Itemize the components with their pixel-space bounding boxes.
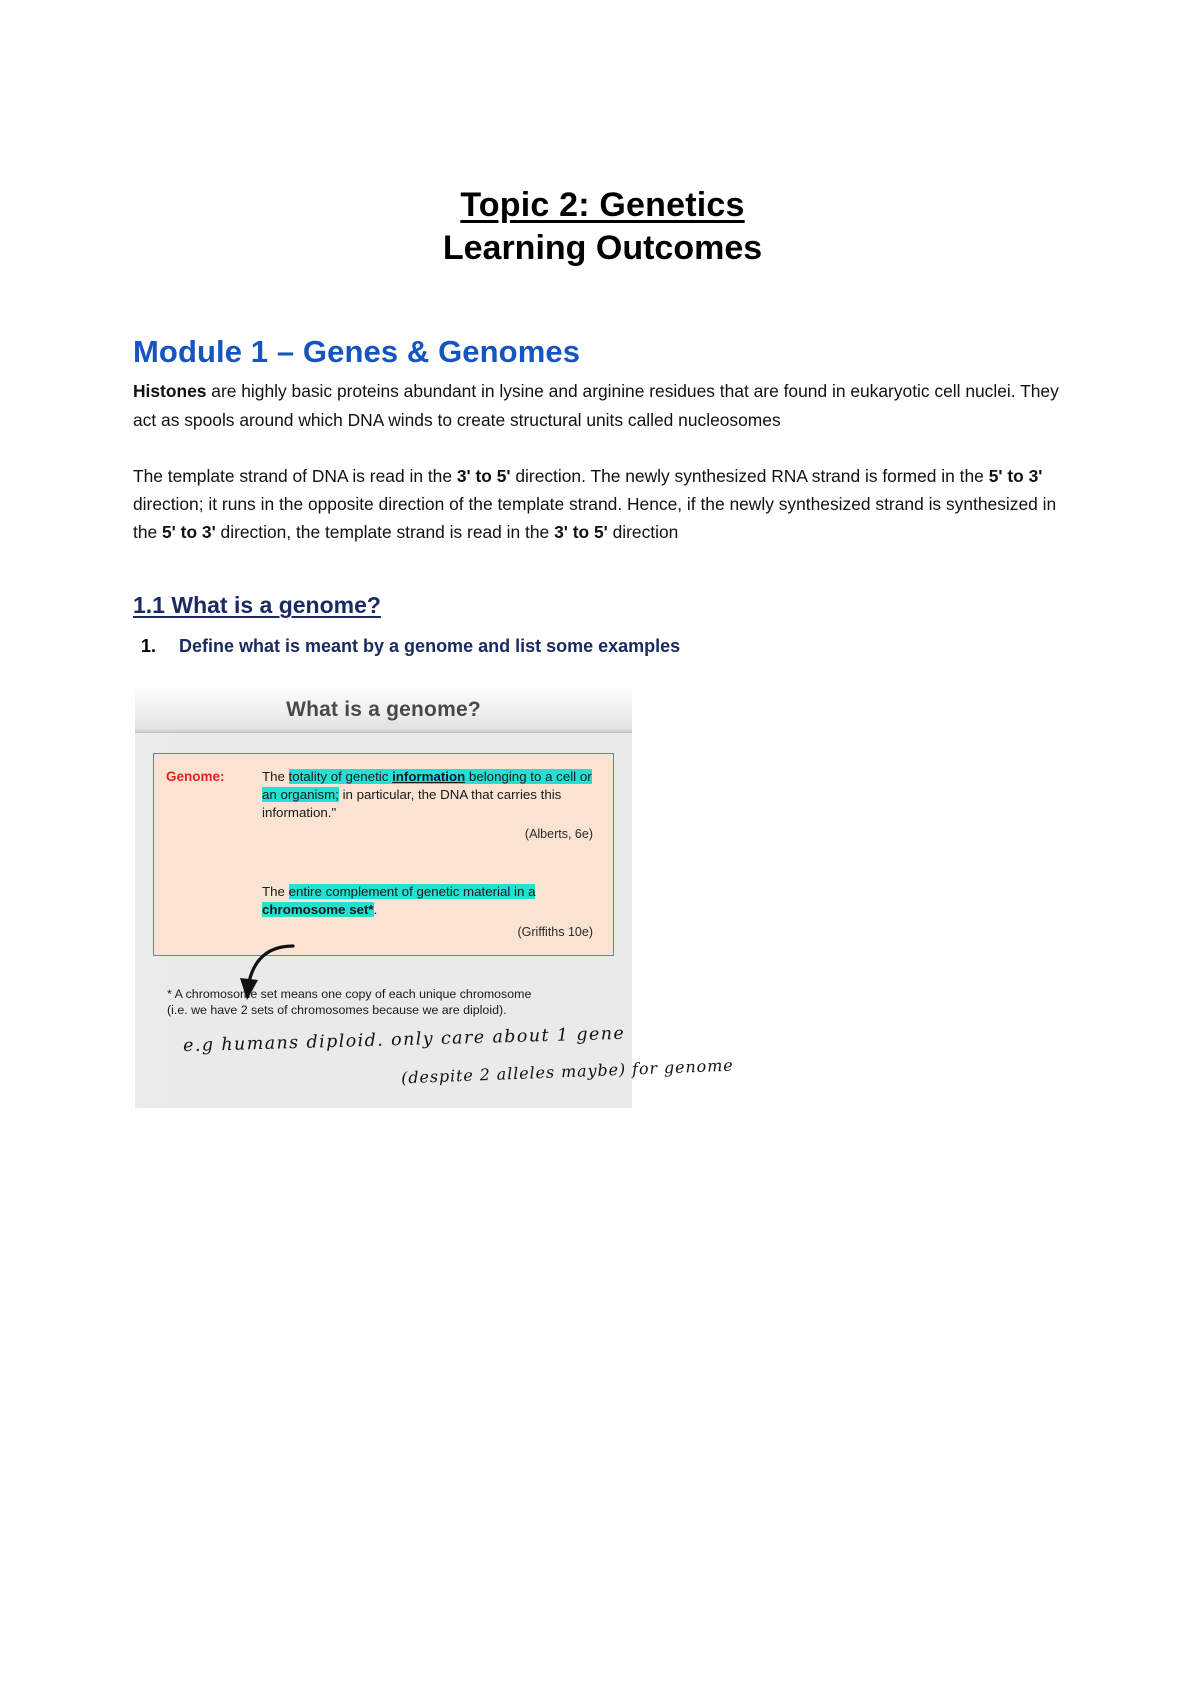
def2-pre: The (262, 884, 289, 899)
definition-text-alberts: The totality of genetic information belo… (262, 768, 601, 821)
curved-arrow-icon (231, 940, 301, 1010)
handwriting-line-2: (despite 2 alleles maybe) for genome (401, 1056, 734, 1088)
template-strand-seg5: direction (608, 522, 679, 542)
module-heading: Module 1 – Genes & Genomes (133, 333, 1072, 372)
direction-3to5-a: 3' to 5' (457, 466, 511, 486)
module-paragraph-1: Histones are highly basic proteins abund… (133, 377, 1072, 433)
slide-header-title: What is a genome? (286, 698, 481, 722)
document-title: Topic 2: Genetics (133, 185, 1072, 226)
handwriting-line-1: e.g humans diploid. only care about 1 ge… (183, 1024, 626, 1056)
definition-text-griffiths: The entire complement of genetic materia… (262, 883, 601, 918)
document-title-text: Topic 2: Genetics (460, 186, 744, 224)
document-page: Topic 2: Genetics Learning Outcomes Modu… (0, 0, 1200, 1698)
citation-griffiths: (Griffiths 10e) (166, 925, 601, 939)
template-strand-seg4: direction, the template strand is read i… (216, 522, 554, 542)
footnote-area: * A chromosome set means one copy of eac… (153, 956, 614, 1024)
def1-highlight-information: information (392, 769, 465, 784)
list-item-label: Define what is meant by a genome and lis… (179, 633, 680, 660)
section-heading-1-1: 1.1 What is a genome? (133, 592, 381, 619)
module-paragraph-2: The template strand of DNA is read in th… (133, 462, 1072, 547)
direction-5to3-a: 5' to 3' (989, 466, 1043, 486)
list-item-marker: 1. (133, 633, 179, 660)
definition-row-alberts: Genome: The totality of genetic informat… (166, 768, 601, 821)
list-item: 1. Define what is meant by a genome and … (133, 633, 1072, 660)
genome-label: Genome: (166, 768, 262, 784)
template-strand-seg1: The template strand of DNA is read in th… (133, 466, 457, 486)
learning-outcomes-list: 1. Define what is meant by a genome and … (133, 633, 1072, 660)
histones-paragraph-rest: are highly basic proteins abundant in ly… (133, 381, 1059, 429)
handwritten-annotation: e.g humans diploid. only care about 1 ge… (153, 1024, 614, 1102)
template-strand-seg2: direction. The newly synthesized RNA str… (511, 466, 989, 486)
def1-pre: The (262, 769, 289, 784)
genome-slide-image: What is a genome? Genome: The totality o… (135, 688, 632, 1108)
slide-header-bar: What is a genome? (135, 688, 632, 733)
histones-bold-term: Histones (133, 381, 206, 401)
def2-highlight-a: entire complement of genetic material in… (289, 884, 536, 899)
document-subtitle: Learning Outcomes (133, 226, 1072, 270)
citation-alberts: (Alberts, 6e) (166, 827, 601, 841)
slide-body: Genome: The totality of genetic informat… (135, 733, 632, 1108)
section-heading-row: 1.1 What is a genome? (133, 546, 1072, 627)
genome-definition-box: Genome: The totality of genetic informat… (153, 753, 614, 955)
def1-highlight-a: totality of genetic (289, 769, 392, 784)
direction-5to3-b: 5' to 3' (162, 522, 216, 542)
direction-3to5-b: 3' to 5' (554, 522, 608, 542)
def2-post: . (374, 902, 378, 917)
definition-row-griffiths: The entire complement of genetic materia… (166, 883, 601, 918)
def2-highlight-chromosome-set: chromosome set* (262, 902, 374, 917)
